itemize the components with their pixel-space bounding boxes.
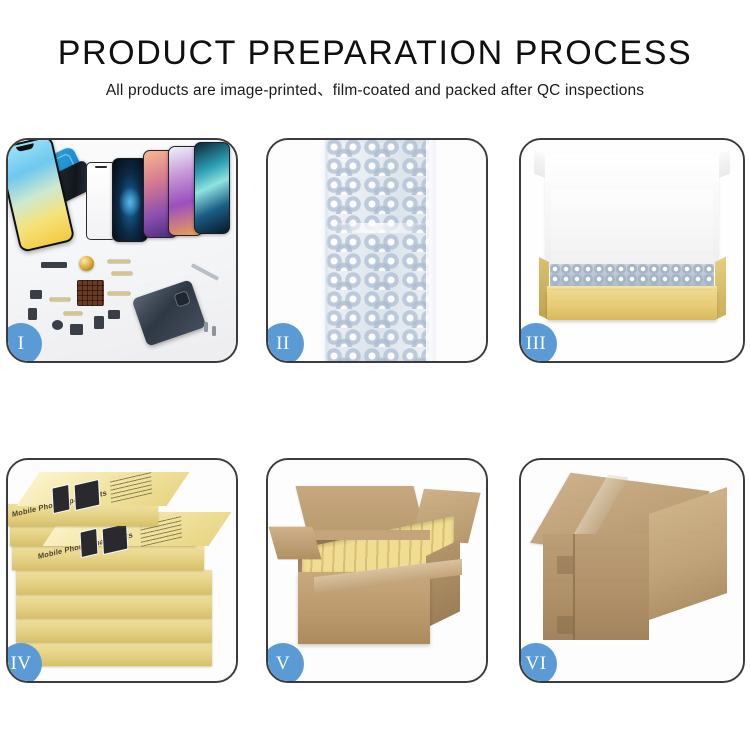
part-icon bbox=[52, 320, 63, 330]
stacked-box bbox=[16, 594, 212, 618]
carton-flap-left bbox=[268, 527, 321, 560]
phone-teal-icon bbox=[194, 142, 230, 234]
step-numeral-2: II bbox=[276, 333, 290, 355]
step-numeral-5: V bbox=[276, 653, 290, 675]
step-numeral-3: III bbox=[526, 333, 546, 355]
sheen-highlight bbox=[325, 223, 429, 233]
part-icon bbox=[94, 316, 104, 329]
carton-seam bbox=[573, 534, 575, 640]
step-panel-6[interactable]: VI bbox=[519, 458, 745, 683]
speaker-coil-icon bbox=[79, 256, 94, 271]
carton-tab bbox=[557, 616, 573, 634]
step-image-3: III bbox=[521, 140, 743, 361]
step-image-4: Mobile Phone Spare Parts Mobile Phone Sp… bbox=[8, 460, 236, 681]
flex-cable-icon bbox=[64, 312, 82, 315]
box-label-screen-image bbox=[80, 528, 99, 558]
step-numeral-4: IV bbox=[10, 653, 31, 675]
part-icon bbox=[41, 262, 67, 268]
box-tray-front bbox=[547, 290, 717, 320]
step-image-1: I bbox=[8, 140, 236, 361]
step-panel-2[interactable]: II bbox=[266, 138, 488, 363]
step-panel-4[interactable]: Mobile Phone Spare Parts Mobile Phone Sp… bbox=[6, 458, 238, 683]
page-subtitle: All products are image-printed、film-coat… bbox=[0, 80, 750, 102]
flex-cable-icon bbox=[50, 298, 70, 301]
step-panel-1[interactable]: I bbox=[6, 138, 238, 363]
step-image-2: II bbox=[268, 140, 486, 361]
part-icon bbox=[28, 308, 37, 320]
chip-grid-icon bbox=[77, 280, 104, 306]
box-stack: Mobile Phone Spare Parts Mobile Phone Sp… bbox=[8, 460, 236, 681]
process-row-top: I II bbox=[0, 130, 750, 365]
screw-icon bbox=[212, 326, 216, 336]
part-icon bbox=[70, 324, 83, 335]
step-numeral-1: I bbox=[18, 333, 25, 355]
flex-cable-icon bbox=[112, 272, 132, 275]
flex-cable-icon bbox=[108, 292, 130, 295]
step-panel-3[interactable]: III bbox=[519, 138, 745, 363]
part-icon bbox=[108, 310, 120, 319]
part-icon bbox=[30, 290, 42, 299]
step-numeral-6: VI bbox=[525, 653, 546, 675]
process-row-bottom: Mobile Phone Spare Parts Mobile Phone Sp… bbox=[0, 450, 750, 685]
process-grid: I II bbox=[0, 130, 750, 685]
screw-icon bbox=[204, 322, 208, 332]
step-image-5: V bbox=[268, 460, 486, 681]
bubble-wrap-pouch bbox=[325, 140, 429, 361]
carton-tab bbox=[557, 556, 573, 574]
page-header: PRODUCT PREPARATION PROCESS All products… bbox=[0, 0, 750, 102]
page-title: PRODUCT PREPARATION PROCESS bbox=[0, 33, 750, 73]
stacked-box bbox=[16, 570, 212, 594]
box-label-screen-image bbox=[52, 484, 71, 514]
stacked-box bbox=[16, 618, 212, 642]
pouch-edge bbox=[318, 140, 328, 361]
pouch-edge bbox=[426, 140, 436, 361]
foam-sheet bbox=[551, 190, 713, 264]
flex-cable-icon bbox=[108, 260, 130, 263]
stacked-box bbox=[16, 642, 212, 666]
carton-rim bbox=[298, 530, 430, 540]
bubble-pattern-icon bbox=[325, 140, 429, 361]
step-image-6: VI bbox=[521, 460, 743, 681]
step-panel-5[interactable]: V bbox=[266, 458, 488, 683]
